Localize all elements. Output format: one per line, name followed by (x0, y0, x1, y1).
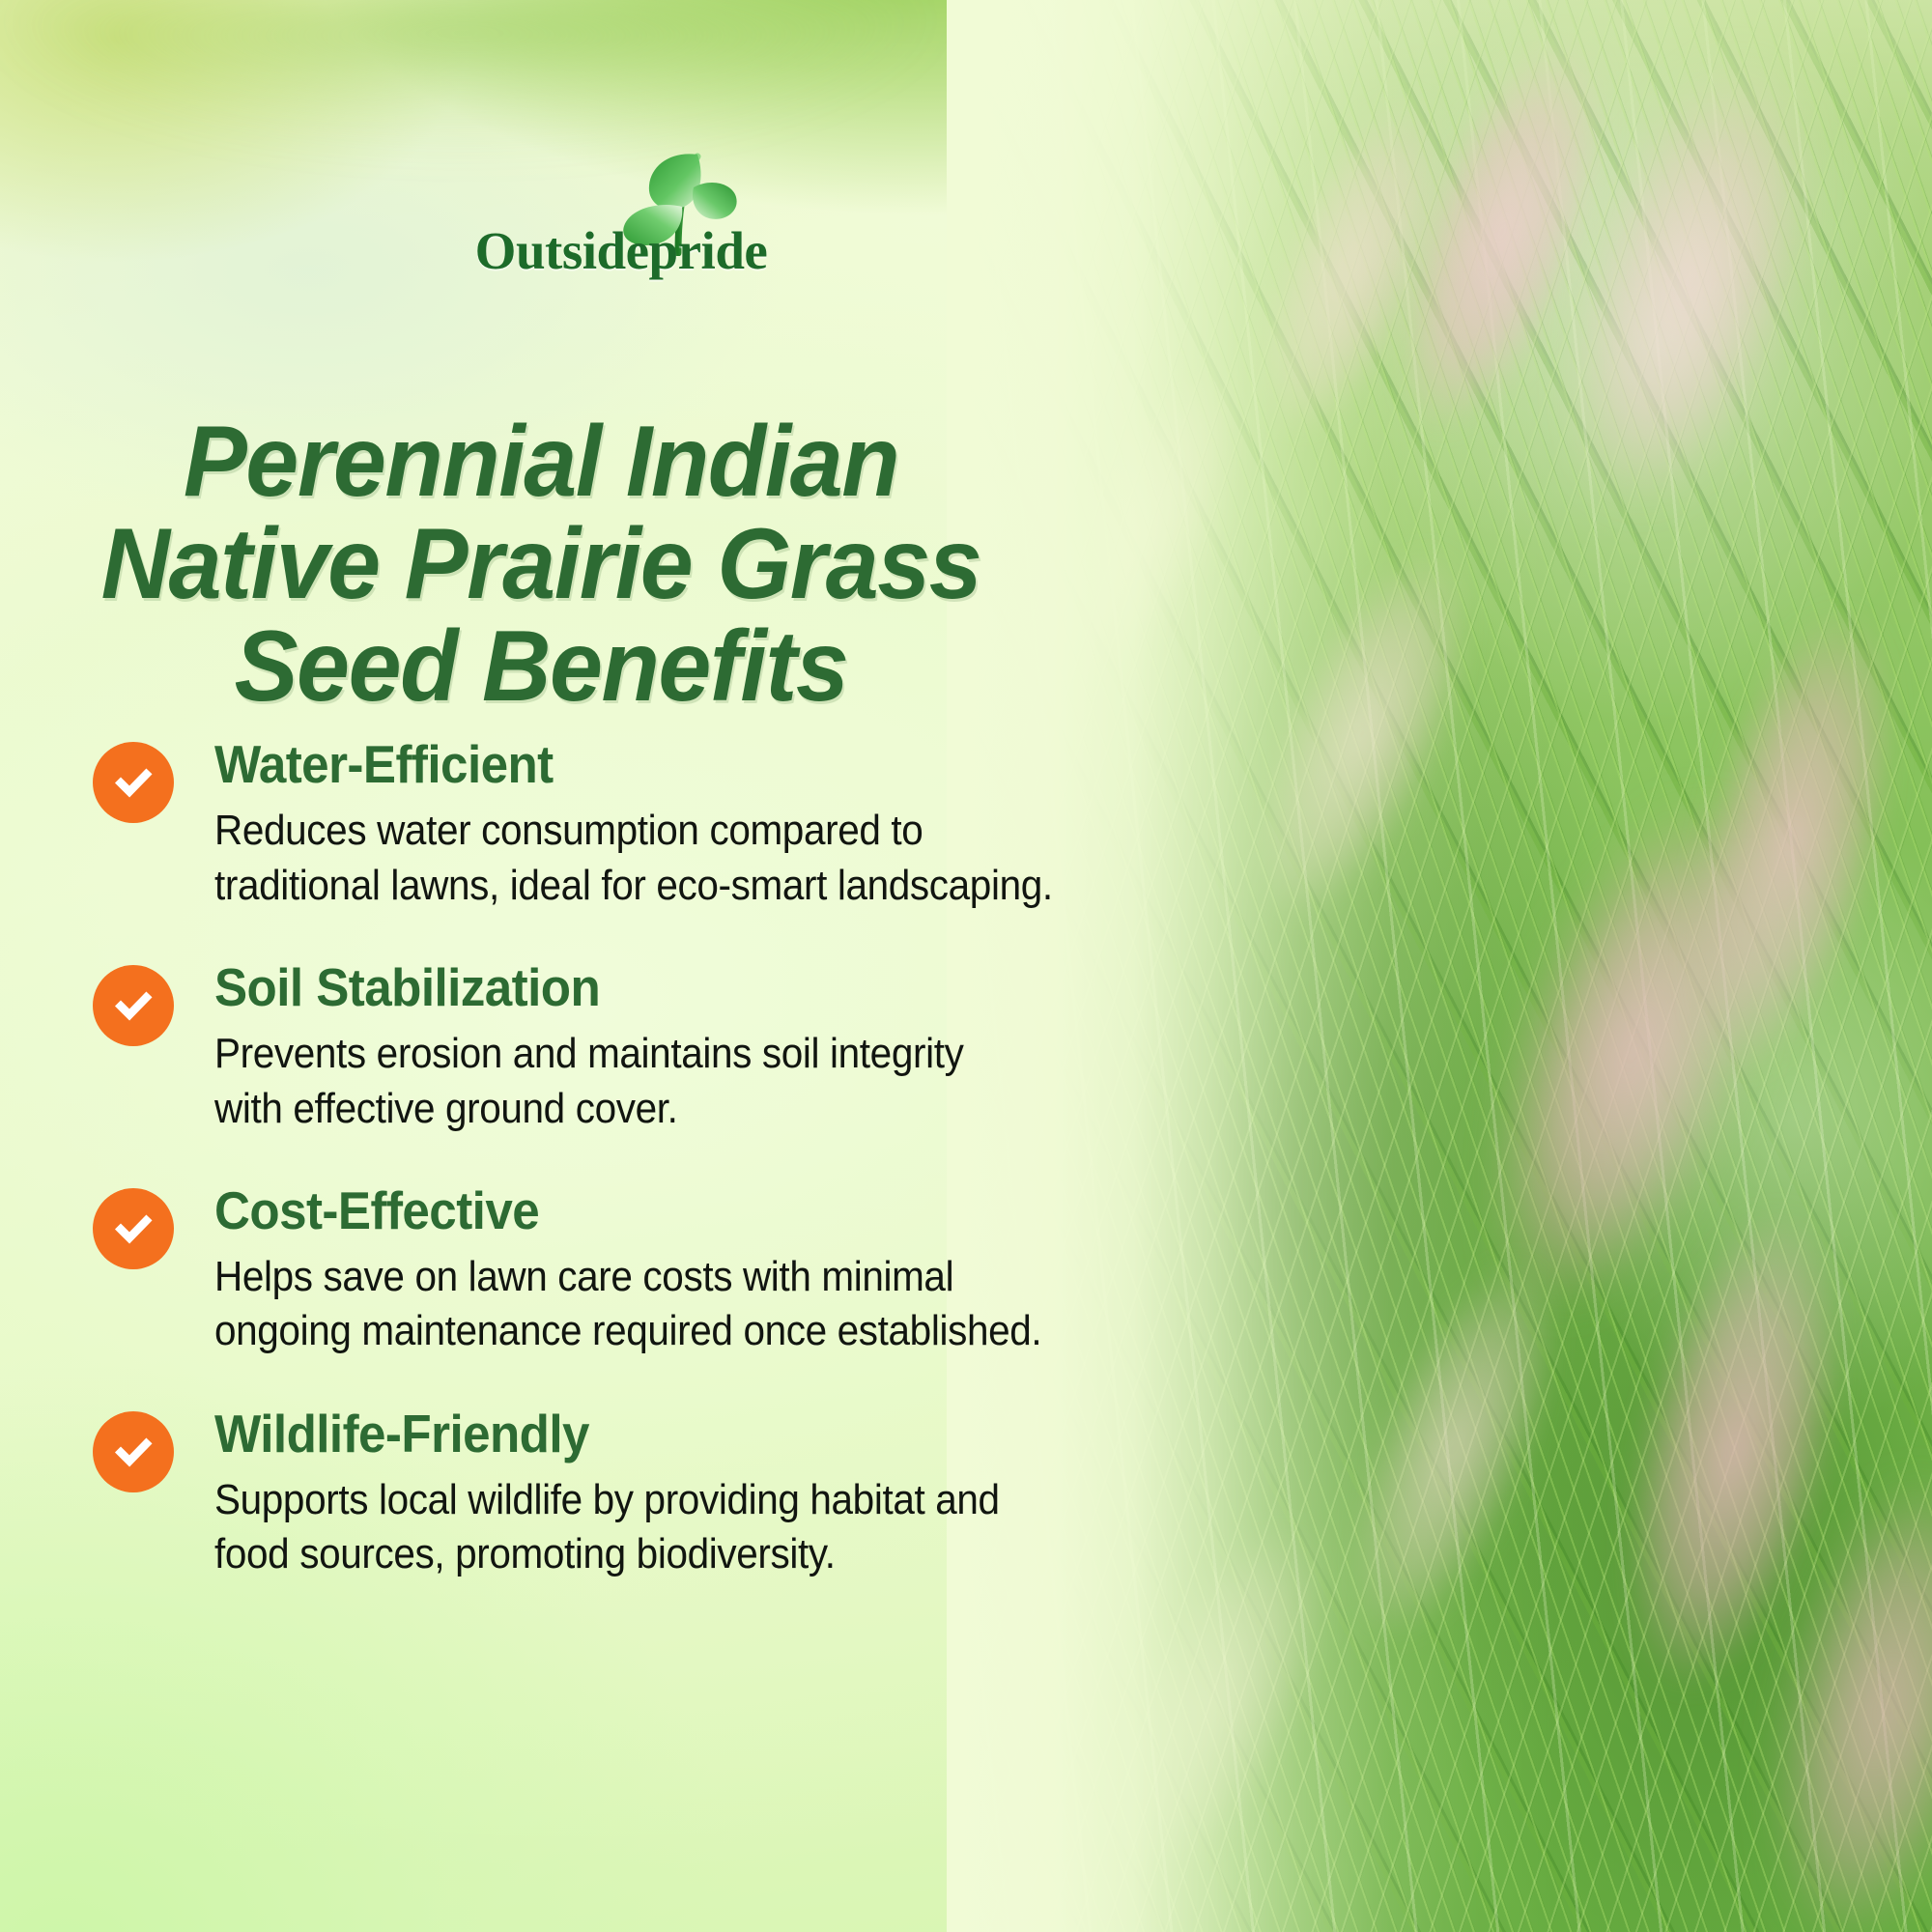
benefit-item: Soil Stabilization Prevents erosion and … (93, 959, 1136, 1136)
benefit-desc-line: traditional lawns, ideal for eco-smart l… (214, 859, 1063, 913)
benefit-desc-line: Helps save on lawn care costs with minim… (214, 1250, 1063, 1304)
benefit-desc-line: Reduces water consumption compared to (214, 804, 1063, 858)
benefit-desc-line: Prevents erosion and maintains soil inte… (214, 1027, 1063, 1081)
check-circle-icon (93, 742, 174, 823)
benefit-description: Reduces water consumption compared to tr… (214, 804, 1063, 913)
benefit-desc-line: ongoing maintenance required once establ… (214, 1304, 1063, 1358)
benefit-heading: Wildlife-Friendly (214, 1406, 1071, 1462)
benefit-item: Wildlife-Friendly Supports local wildlif… (93, 1406, 1136, 1582)
benefit-heading: Cost-Effective (214, 1182, 1071, 1238)
benefit-heading: Water-Efficient (214, 736, 1071, 792)
title-line-2: Native Prairie Grass (27, 513, 1055, 615)
infographic-poster: Outsidepride Perennial Indian Native Pra… (0, 0, 1932, 1932)
content-column: Outsidepride Perennial Indian Native Pra… (0, 0, 1198, 1932)
benefit-item: Cost-Effective Helps save on lawn care c… (93, 1182, 1136, 1359)
benefit-desc-line: food sources, promoting biodiversity. (214, 1527, 1063, 1581)
benefit-description: Helps save on lawn care costs with minim… (214, 1250, 1063, 1359)
benefit-desc-line: Supports local wildlife by providing hab… (214, 1473, 1063, 1527)
check-circle-icon (93, 1411, 174, 1492)
title-line-1: Perennial Indian (27, 411, 1055, 513)
benefit-desc-line: with effective ground cover. (214, 1082, 1063, 1136)
benefit-item: Water-Efficient Reduces water consumptio… (93, 736, 1136, 913)
page-title: Perennial Indian Native Prairie Grass Se… (27, 411, 1055, 718)
title-line-3: Seed Benefits (27, 615, 1055, 718)
brand-wordmark: Outsidepride (462, 220, 781, 281)
benefits-list: Water-Efficient Reduces water consumptio… (93, 736, 1136, 1582)
benefit-heading: Soil Stabilization (214, 959, 1071, 1015)
brand-logo[interactable]: Outsidepride (462, 135, 781, 290)
check-circle-icon (93, 965, 174, 1046)
check-circle-icon (93, 1188, 174, 1269)
benefit-description: Prevents erosion and maintains soil inte… (214, 1027, 1063, 1136)
benefit-description: Supports local wildlife by providing hab… (214, 1473, 1063, 1582)
